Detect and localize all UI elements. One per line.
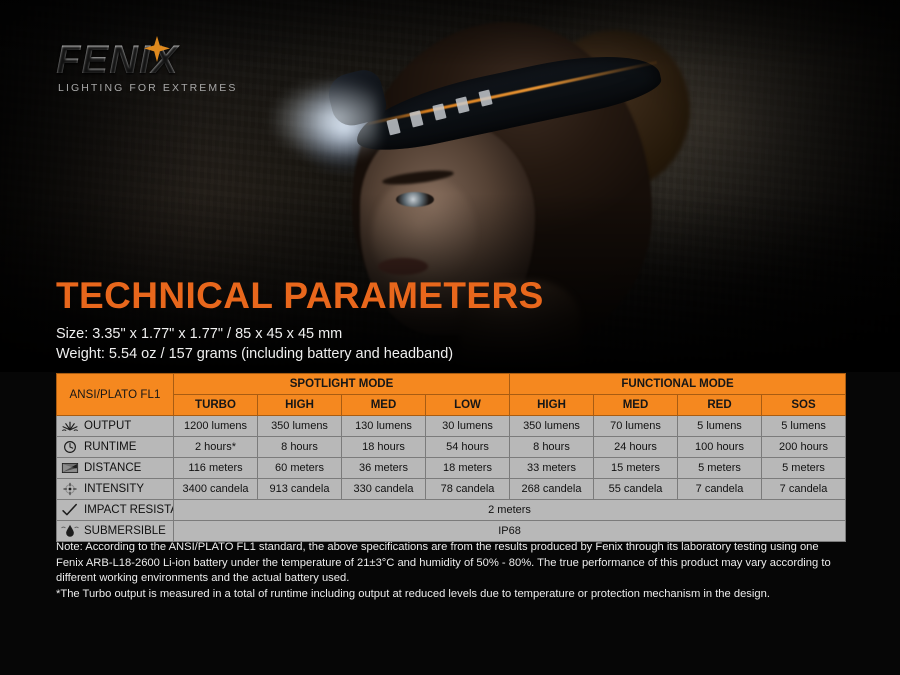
- row-label-text: RUNTIME: [84, 437, 136, 457]
- cell-distance-spotlight-turbo: 116 meters: [174, 458, 258, 479]
- row-label-text: DISTANCE: [84, 458, 141, 478]
- table-group-header-row: ANSI/PLATO FL1 SPOTLIGHT MODE FUNCTIONAL…: [57, 374, 846, 395]
- cell-intensity-spotlight-turbo: 3400 candela: [174, 479, 258, 500]
- cell-runtime-spotlight-low: 54 hours: [426, 437, 510, 458]
- column-header-functional-med: MED: [594, 395, 678, 416]
- cell-distance-functional-red: 5 meters: [678, 458, 762, 479]
- cell-intensity-spotlight-med: 330 candela: [342, 479, 426, 500]
- table-row: INTENSITY 3400 candela 913 candela 330 c…: [57, 479, 846, 500]
- row-label-distance: DISTANCE: [57, 458, 174, 479]
- cell-distance-functional-med: 15 meters: [594, 458, 678, 479]
- page-title: TECHNICAL PARAMETERS: [56, 276, 544, 316]
- cell-runtime-functional-sos: 200 hours: [762, 437, 846, 458]
- footnote-paragraph-1: Note: According to the ANSI/PLATO FL1 st…: [56, 540, 848, 587]
- target-icon: [60, 481, 80, 497]
- sunburst-icon: [60, 418, 80, 434]
- cell-distance-spotlight-med: 36 meters: [342, 458, 426, 479]
- checkmark-icon: [60, 502, 80, 518]
- cell-distance-functional-high: 33 meters: [510, 458, 594, 479]
- cell-runtime-functional-high: 8 hours: [510, 437, 594, 458]
- table-corner-label: ANSI/PLATO FL1: [57, 374, 174, 416]
- product-spec-page: FENIX LIGHTING FOR EXTREMES TECHNICAL PA…: [0, 0, 900, 675]
- table-body: OUTPUT 1200 lumens 350 lumens 130 lumens…: [57, 416, 846, 542]
- row-label-runtime: RUNTIME: [57, 437, 174, 458]
- column-header-spotlight-high: HIGH: [258, 395, 342, 416]
- cell-submersible-value: IP68: [174, 521, 846, 542]
- group-header-functional: FUNCTIONAL MODE: [510, 374, 846, 395]
- cell-intensity-functional-med: 55 candela: [594, 479, 678, 500]
- table-row: OUTPUT 1200 lumens 350 lumens 130 lumens…: [57, 416, 846, 437]
- group-header-spotlight: SPOTLIGHT MODE: [174, 374, 510, 395]
- cell-intensity-spotlight-low: 78 candela: [426, 479, 510, 500]
- star-icon: [144, 35, 170, 63]
- cell-intensity-spotlight-high: 913 candela: [258, 479, 342, 500]
- cell-output-functional-sos: 5 lumens: [762, 416, 846, 437]
- cell-runtime-functional-red: 100 hours: [678, 437, 762, 458]
- column-header-spotlight-med: MED: [342, 395, 426, 416]
- row-label-text: INTENSITY: [84, 479, 144, 499]
- row-label-output: OUTPUT: [57, 416, 174, 437]
- cell-output-functional-med: 70 lumens: [594, 416, 678, 437]
- cell-output-functional-high: 350 lumens: [510, 416, 594, 437]
- spec-weight: Weight: 5.54 oz / 157 grams (including b…: [56, 344, 453, 364]
- brand-tagline: LIGHTING FOR EXTREMES: [58, 82, 237, 94]
- cell-intensity-functional-sos: 7 candela: [762, 479, 846, 500]
- column-header-functional-red: RED: [678, 395, 762, 416]
- footnote: Note: According to the ANSI/PLATO FL1 st…: [56, 540, 848, 602]
- table-row: SUBMERSIBLE IP68: [57, 521, 846, 542]
- beam-icon: [60, 460, 80, 476]
- cell-distance-functional-sos: 5 meters: [762, 458, 846, 479]
- cell-distance-spotlight-high: 60 meters: [258, 458, 342, 479]
- column-header-functional-sos: SOS: [762, 395, 846, 416]
- column-header-spotlight-turbo: TURBO: [174, 395, 258, 416]
- cell-output-spotlight-low: 30 lumens: [426, 416, 510, 437]
- table-row: DISTANCE 116 meters 60 meters 36 meters …: [57, 458, 846, 479]
- fenix-logo: FENIX LIGHTING FOR EXTREMES: [56, 40, 246, 92]
- cell-output-spotlight-med: 130 lumens: [342, 416, 426, 437]
- clock-icon: [60, 439, 80, 455]
- row-label-impact-resistance: IMPACT RESISTANCE: [57, 500, 174, 521]
- table-row: IMPACT RESISTANCE 2 meters: [57, 500, 846, 521]
- row-label-intensity: INTENSITY: [57, 479, 174, 500]
- cell-output-spotlight-turbo: 1200 lumens: [174, 416, 258, 437]
- cell-runtime-functional-med: 24 hours: [594, 437, 678, 458]
- cell-runtime-spotlight-turbo: 2 hours*: [174, 437, 258, 458]
- table-head: ANSI/PLATO FL1 SPOTLIGHT MODE FUNCTIONAL…: [57, 374, 846, 416]
- cell-output-spotlight-high: 350 lumens: [258, 416, 342, 437]
- row-label-text: SUBMERSIBLE: [84, 521, 166, 541]
- cell-runtime-spotlight-med: 18 hours: [342, 437, 426, 458]
- droplet-icon: [60, 523, 80, 539]
- row-label-text: IMPACT RESISTANCE: [84, 500, 174, 520]
- cell-intensity-functional-high: 268 candela: [510, 479, 594, 500]
- cell-output-functional-red: 5 lumens: [678, 416, 762, 437]
- column-header-spotlight-low: LOW: [426, 395, 510, 416]
- row-label-submersible: SUBMERSIBLE: [57, 521, 174, 542]
- table-column-header-row: TURBO HIGH MED LOW HIGH MED RED SOS: [57, 395, 846, 416]
- cell-distance-spotlight-low: 18 meters: [426, 458, 510, 479]
- row-label-text: OUTPUT: [84, 416, 131, 436]
- column-header-functional-high: HIGH: [510, 395, 594, 416]
- cell-intensity-functional-red: 7 candela: [678, 479, 762, 500]
- footnote-paragraph-2: *The Turbo output is measured in a total…: [56, 587, 848, 603]
- spec-size: Size: 3.35" x 1.77" x 1.77" / 85 x 45 x …: [56, 324, 342, 344]
- cell-runtime-spotlight-high: 8 hours: [258, 437, 342, 458]
- spec-table-container: ANSI/PLATO FL1 SPOTLIGHT MODE FUNCTIONAL…: [56, 373, 845, 542]
- table-row: RUNTIME 2 hours* 8 hours 18 hours 54 hou…: [57, 437, 846, 458]
- cell-impact-resistance-value: 2 meters: [174, 500, 846, 521]
- technical-parameters-table: ANSI/PLATO FL1 SPOTLIGHT MODE FUNCTIONAL…: [56, 373, 846, 542]
